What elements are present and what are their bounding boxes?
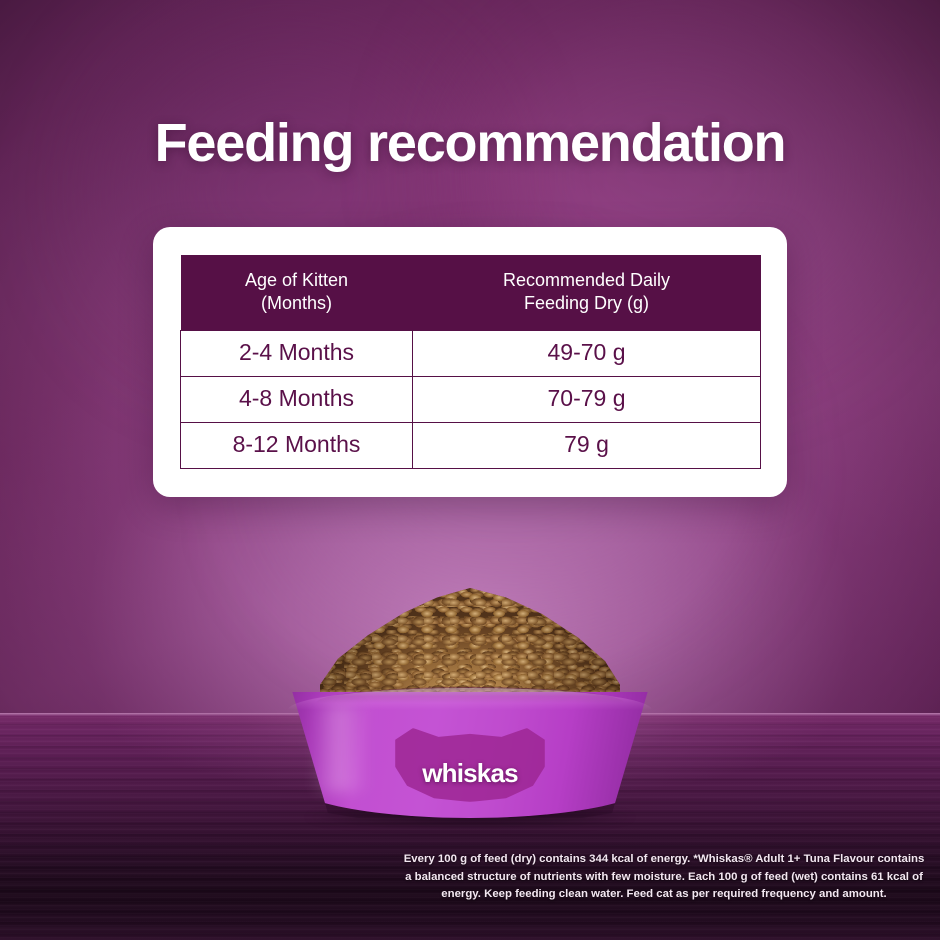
column-header-feeding-line1: Recommended Daily [419,269,755,292]
column-header-age-line1: Age of Kitten [187,269,407,292]
cell-feeding-amount: 70-79 g [413,377,761,423]
cell-age-range: 8-12 Months [181,423,413,469]
table-row: 4-8 Months 70-79 g [181,377,761,423]
whiskas-wordmark: whiskas [395,758,545,789]
table-header-row: Age of Kitten (Months) Recommended Daily… [181,255,761,331]
cell-feeding-amount: 49-70 g [413,331,761,377]
feeding-table-body: 2-4 Months 49-70 g 4-8 Months 70-79 g 8-… [181,331,761,469]
footnote-text: Every 100 g of feed (dry) contains 344 k… [400,851,928,904]
table-row: 8-12 Months 79 g [181,423,761,469]
page-title: Feeding recommendation [0,112,940,174]
feeding-recommendation-card: Age of Kitten (Months) Recommended Daily… [153,227,787,497]
table-row: 2-4 Months 49-70 g [181,331,761,377]
poster-stage: Feeding recommendation Age of Kitten (Mo… [0,0,940,940]
feeding-table-header: Age of Kitten (Months) Recommended Daily… [181,255,761,331]
column-header-recommended-daily-feeding: Recommended Daily Feeding Dry (g) [413,255,761,331]
cell-feeding-amount: 79 g [413,423,761,469]
column-header-age-line2: (Months) [187,292,407,315]
feeding-table: Age of Kitten (Months) Recommended Daily… [180,255,761,469]
cat-food-bowl-image: whiskas [283,588,657,828]
cell-age-range: 2-4 Months [181,331,413,377]
cell-age-range: 4-8 Months [181,377,413,423]
bowl-specular-highlight [311,704,369,792]
whiskas-logo: whiskas [395,728,545,802]
column-header-feeding-line2: Feeding Dry (g) [419,292,755,315]
column-header-age-of-kitten: Age of Kitten (Months) [181,255,413,331]
